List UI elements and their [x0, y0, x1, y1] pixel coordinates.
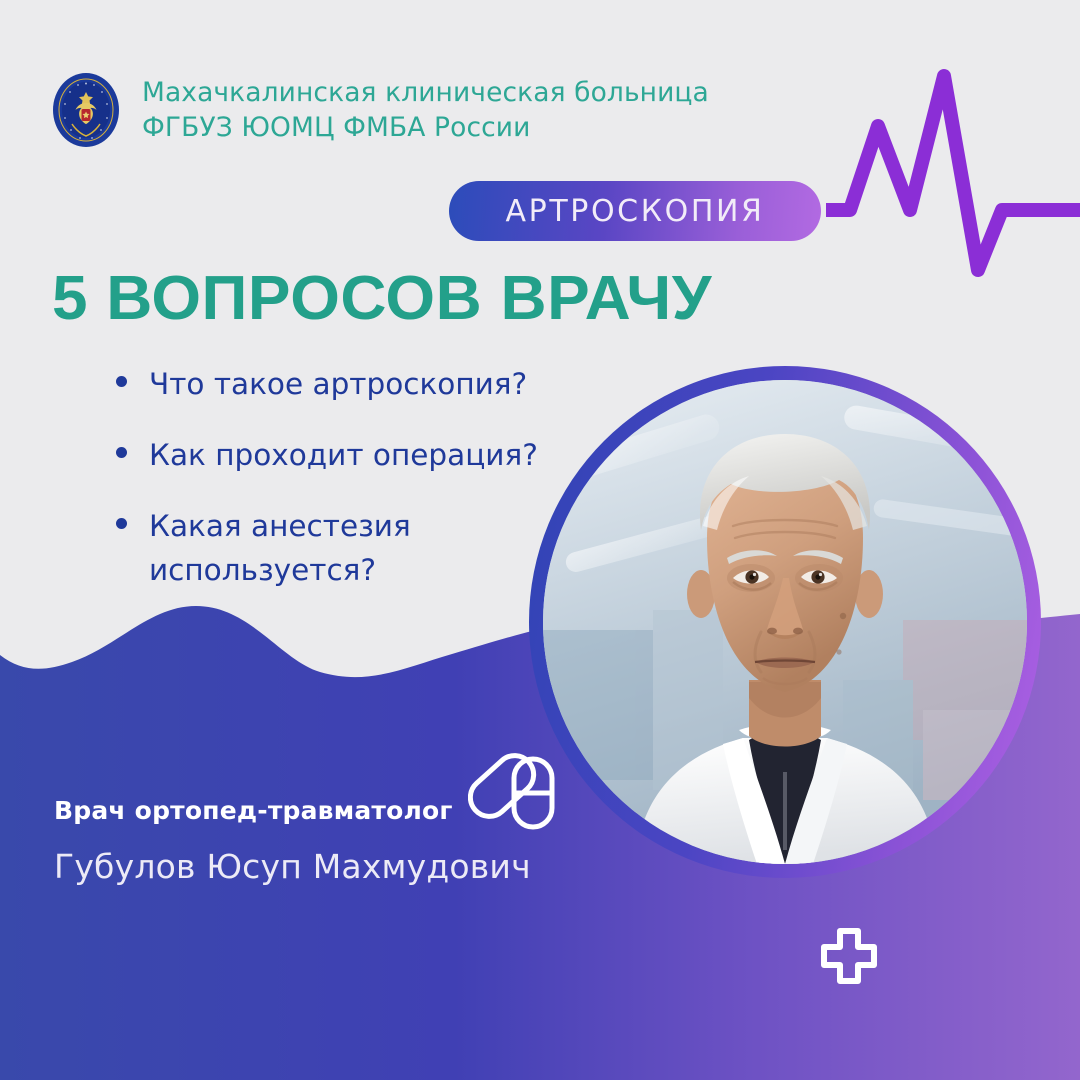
clinic-name-line-2: ФГБУЗ ЮОМЦ ФМБА России	[142, 111, 709, 144]
heartbeat-line-icon	[826, 58, 1080, 308]
topic-badge-label: АРТРОСКОПИЯ	[506, 194, 765, 229]
list-item: Что такое артроскопия?	[110, 362, 580, 407]
page-title: 5 ВОПРОСОВ ВРАЧУ	[52, 268, 712, 330]
clinic-header: Махачкалинская клиническая больница ФГБУ…	[52, 72, 709, 148]
list-item: Какая анестезия используется?	[110, 504, 580, 594]
bullet-dot-icon	[116, 518, 127, 529]
bullet-dot-icon	[116, 447, 127, 458]
question-text: Какая анестезия используется?	[149, 509, 411, 588]
doctor-portrait-ring	[529, 366, 1041, 878]
promo-poster: Махачкалинская клиническая больница ФГБУ…	[0, 0, 1080, 1080]
question-text: Что такое артроскопия?	[149, 367, 527, 401]
doctor-role: Врач ортопед-травматолог	[54, 796, 574, 825]
clinic-emblem-icon	[52, 72, 120, 148]
question-list: Что такое артроскопия? Как проходит опер…	[110, 362, 580, 619]
clinic-name-block: Махачкалинская клиническая больница ФГБУ…	[142, 76, 709, 145]
list-item: Как проходит операция?	[110, 433, 580, 478]
doctor-caption: Врач ортопед-травматолог Губулов Юсуп Ма…	[54, 796, 574, 886]
clinic-name-line-1: Махачкалинская клиническая больница	[142, 76, 709, 109]
doctor-photo	[543, 380, 1027, 864]
doctor-name: Губулов Юсуп Махмудович	[54, 847, 574, 886]
question-text: Как проходит операция?	[149, 438, 538, 472]
bullet-dot-icon	[116, 376, 127, 387]
avatar	[543, 380, 1027, 864]
topic-badge[interactable]: АРТРОСКОПИЯ	[449, 181, 821, 241]
medical-cross-icon	[818, 925, 880, 987]
